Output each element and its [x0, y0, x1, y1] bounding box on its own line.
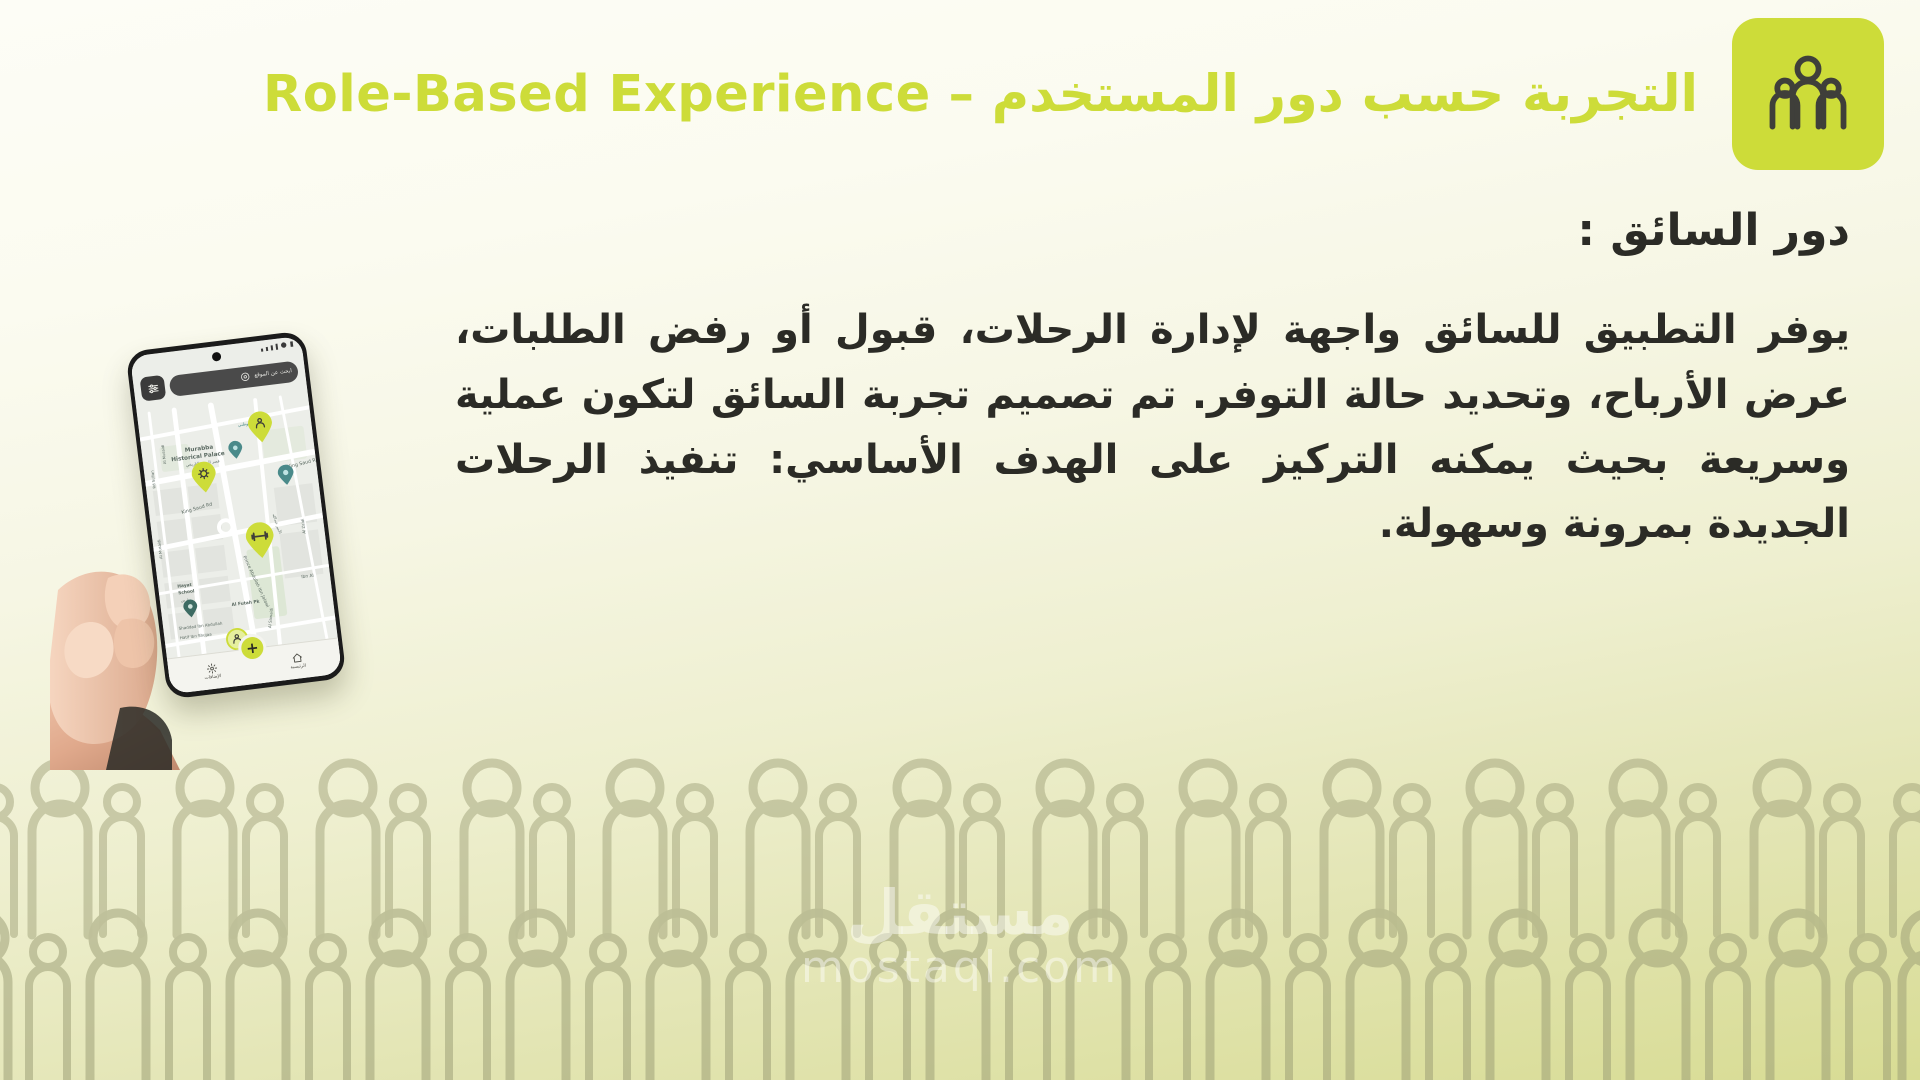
svg-text:King Saud Rd: King Saud Rd	[181, 501, 213, 516]
location-pin-icon	[240, 371, 251, 382]
wifi-icon: ●	[280, 342, 287, 350]
svg-text:Al Sawaidi: Al Sawaidi	[267, 607, 274, 628]
svg-text:Hatif Ibn Shujaa: Hatif Ibn Shujaa	[180, 631, 213, 640]
map-pin-2[interactable]	[189, 460, 219, 495]
home-icon	[291, 652, 303, 664]
role-description: يوفر التطبيق للسائق واجهة لإدارة الرحلات…	[455, 298, 1850, 557]
signal-bar-2	[266, 347, 268, 351]
svg-text:Al Zaidi: Al Zaidi	[300, 518, 307, 534]
svg-text:Al Futah Pk: Al Futah Pk	[231, 599, 260, 608]
phone-screen: Murabba Historical Palace قصر المربع الت…	[130, 336, 342, 694]
nav-label-settings: الإضافات	[204, 674, 221, 681]
content-block: دور السائق : يوفر التطبيق للسائق واجهة ل…	[455, 205, 1850, 557]
signal-bar-1	[261, 348, 263, 351]
group-people-icon-badge	[1732, 18, 1884, 170]
filter-button[interactable]	[140, 375, 167, 402]
map-pin-5[interactable]	[227, 440, 244, 461]
battery-icon: ▮	[289, 341, 294, 348]
slide-header: التجربة حسب دور المستخدم – Role-Based Ex…	[120, 18, 1884, 170]
search-placeholder: ابحث عن الموقع	[254, 368, 292, 379]
slide-canvas: مستقل mostaql.com التجربة حسب دور المستخ…	[0, 0, 1920, 1080]
group-people-icon	[1760, 46, 1856, 142]
watermark-latin: mostaql.com	[801, 945, 1119, 991]
gear-icon	[206, 662, 218, 674]
map-pin-1[interactable]	[246, 410, 276, 445]
svg-text:Hayat: Hayat	[177, 582, 192, 590]
nav-item-settings[interactable]: الإضافات	[203, 662, 222, 681]
nav-label-home: الرئيسية	[290, 664, 306, 671]
nav-item-home[interactable]: الرئيسية	[289, 652, 306, 671]
role-heading: دور السائق :	[455, 205, 1850, 256]
svg-text:Ibn Al: Ibn Al	[301, 573, 314, 580]
signal-bar-4	[275, 344, 278, 350]
svg-text:Shaddad Ibn Abdullah: Shaddad Ibn Abdullah	[178, 621, 223, 631]
signal-bar-3	[271, 345, 274, 350]
watermark-arabic: مستقل	[801, 880, 1119, 945]
map-pin-4[interactable]	[276, 464, 295, 487]
page-title: التجربة حسب دور المستخدم – Role-Based Ex…	[263, 65, 1698, 124]
sliders-filter-icon	[146, 381, 160, 395]
map-pin-3[interactable]	[243, 521, 277, 561]
svg-text:Al Musaidi: Al Musaidi	[160, 445, 167, 465]
svg-text:Rd Sufian: Rd Sufian	[149, 470, 156, 489]
phone-mockup: Murabba Historical Palace قصر المربع الت…	[60, 330, 390, 750]
svg-text:Al Musaidi: Al Musaidi	[156, 539, 163, 559]
watermark: مستقل mostaql.com	[801, 880, 1119, 991]
map-pin-6[interactable]	[182, 598, 199, 619]
svg-text:School: School	[178, 588, 195, 596]
